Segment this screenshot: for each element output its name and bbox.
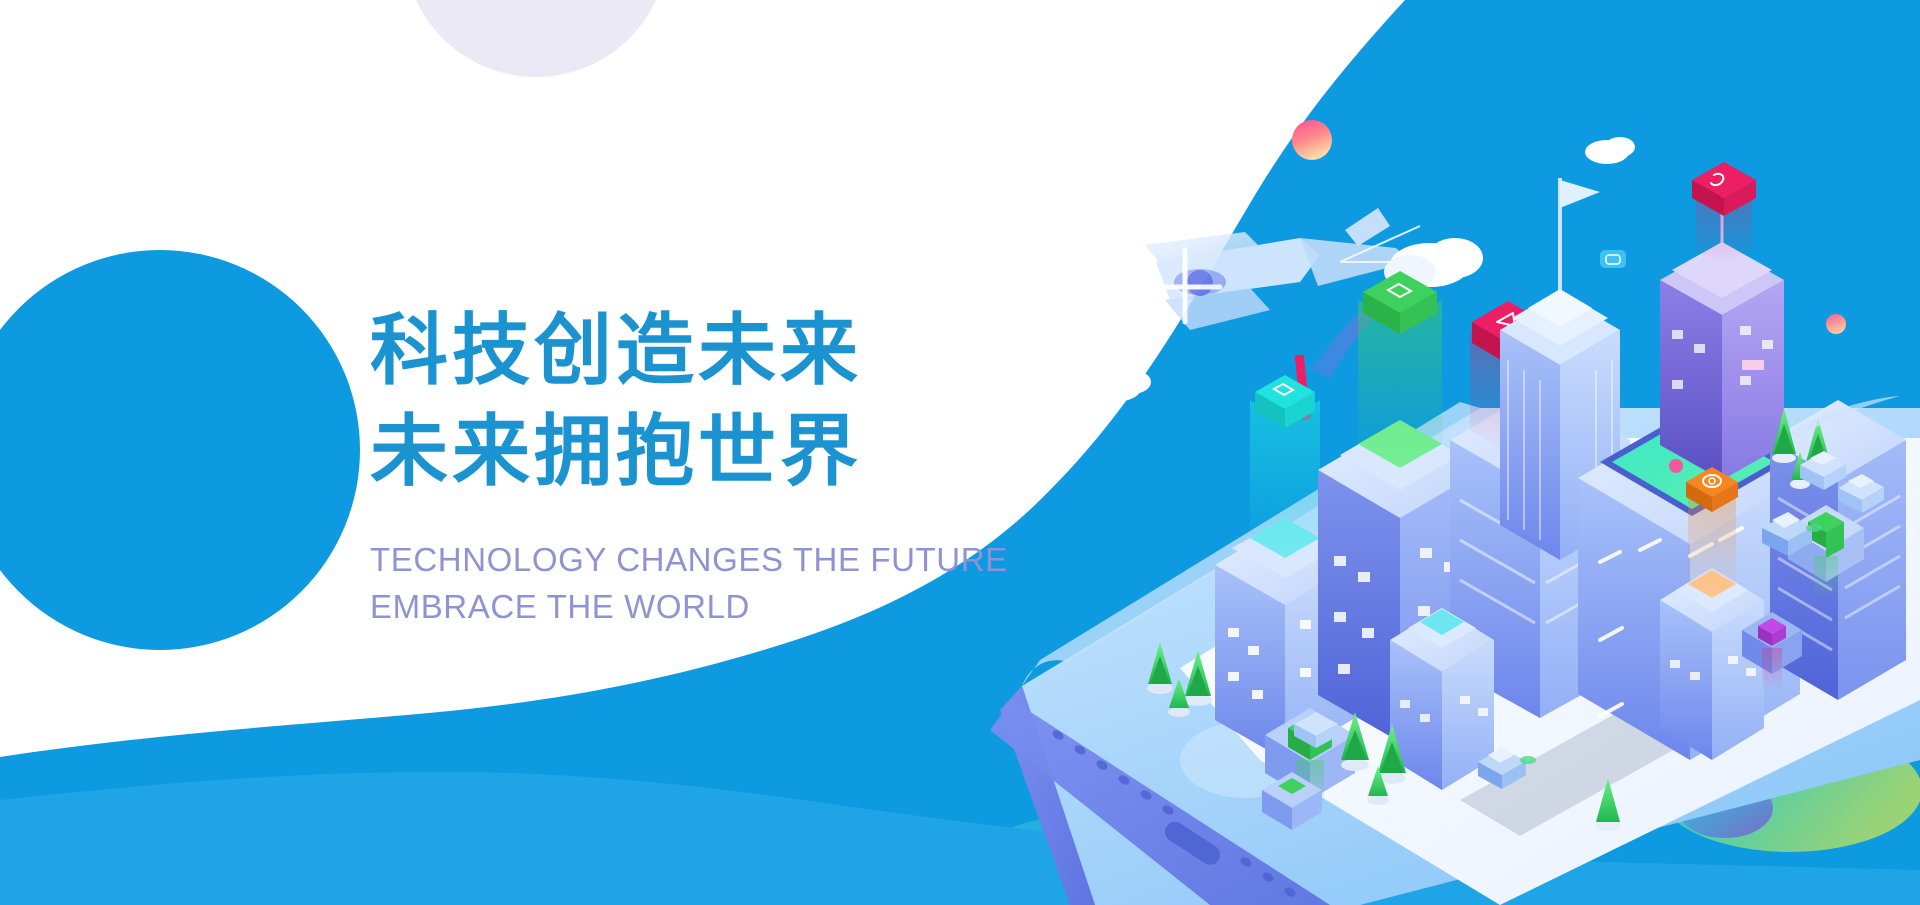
chat-beacon (1250, 375, 1320, 558)
cloud-icon-3 (1585, 137, 1635, 164)
sphere-pink-large (1292, 120, 1332, 160)
diamond-badge-icon (1600, 250, 1626, 268)
navigate-beacon (1428, 360, 1476, 444)
subtitle-block: TECHNOLOGY CHANGES THE FUTURE EMBRACE TH… (370, 537, 1070, 631)
headline-line-2: 未来拥抱世界 (370, 401, 1070, 502)
camera-beacon (1686, 467, 1738, 598)
subtitle-line-1: TECHNOLOGY CHANGES THE FUTURE (370, 537, 1070, 584)
headline-block: 科技创造未来 未来拥抱世界 TECHNOLOGY CHANGES THE FUT… (370, 300, 1070, 631)
headline-line-1: 科技创造未来 (370, 300, 1070, 401)
cloud-icon-2 (1089, 370, 1151, 402)
flag-icon (1560, 180, 1600, 208)
phone-beacon (1692, 162, 1756, 266)
sphere-pink-small (1826, 314, 1846, 334)
subtitle-line-2: EMBRACE THE WORLD (370, 584, 1070, 631)
hero-banner: 科技创造未来 未来拥抱世界 TECHNOLOGY CHANGES THE FUT… (0, 0, 1920, 905)
